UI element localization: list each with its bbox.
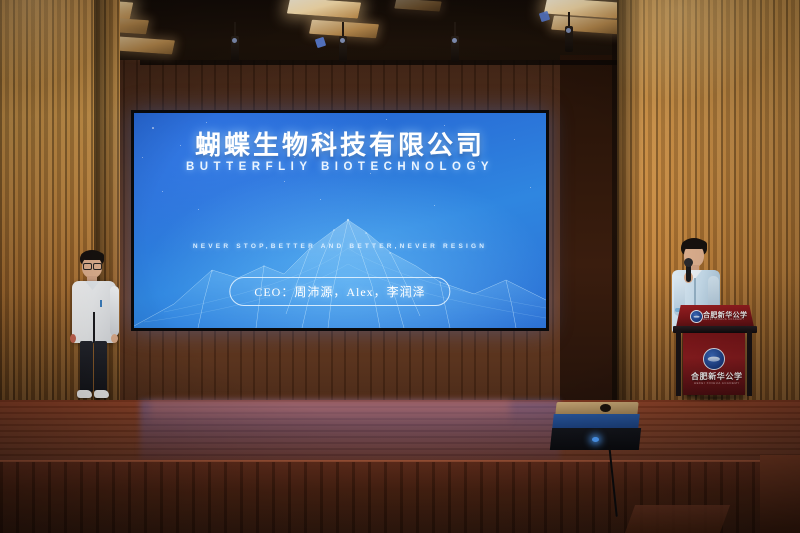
presenter-left-glasses-right (93, 263, 102, 270)
podium-emblem-front (703, 348, 725, 370)
podium-floor-shadow (668, 393, 760, 403)
presenter-left-shoe-left (77, 390, 92, 398)
curtain-shadow-right (617, 0, 643, 415)
floor-access-plate (625, 505, 730, 533)
presenter-left-trousers-right (94, 341, 107, 392)
podium-desk-lip (673, 326, 757, 333)
presenter-left-pocket-pen (100, 300, 102, 307)
presenter-left-hand-right (111, 334, 118, 343)
podium-base-right (747, 330, 752, 396)
hanging-lamp-4 (565, 26, 573, 52)
screen-ceo-badge: CEO：周沛源，Alex，李润泽 (229, 277, 450, 306)
presenter-left-glasses (83, 263, 92, 270)
podium-name-en-front: HEFEI XINHUA ACADEMY (694, 381, 740, 385)
truss-rod-3 (454, 22, 456, 36)
presenter-left-fringe (81, 251, 104, 260)
mountain-wireframe-graphic (134, 208, 546, 328)
stage-monitor-power-led (592, 437, 599, 442)
lighting-truss-beam (140, 60, 670, 65)
presenter-left-arm-right (110, 286, 119, 336)
truss-rod-1 (234, 22, 236, 36)
presenter-left-trousers-left (80, 341, 93, 392)
hanging-lamp-1 (231, 36, 239, 62)
presenter-right-fringe (682, 239, 707, 249)
stage-apron-right-return (760, 455, 800, 533)
truss-rod-2 (342, 22, 344, 36)
presenter-left-coat-opening (93, 312, 95, 343)
presenter-left-shoe-right (94, 390, 109, 398)
screen-tagline: NEVER STOP,BETTER AND BETTER,NEVER RESIG… (134, 243, 546, 250)
podium-base-left (676, 330, 681, 396)
podium-emblem-top (690, 310, 703, 323)
presenter-left-hand-left (70, 334, 76, 343)
presenter-left (60, 250, 130, 405)
podium-name-en-top: HEFEI XINHUA ACADEMY (703, 318, 744, 321)
screen-title-chinese: 蝴蝶生物科技有限公司 (134, 125, 546, 162)
stage-monitor-grille (552, 414, 640, 429)
warm-reflection-on-floor (150, 400, 510, 426)
stage-monitor-handle (600, 404, 611, 412)
truss-rod-4 (568, 12, 570, 26)
screen-title-english: BUTTERFLIY BIOTECHNOLOGY (134, 161, 546, 173)
led-presentation-screen: 蝴蝶生物科技有限公司 BUTTERFLIY BIOTECHNOLOGY NEVE… (131, 110, 549, 331)
auditorium-stage-photo: 蝴蝶生物科技有限公司 BUTTERFLIY BIOTECHNOLOGY NEVE… (0, 0, 800, 533)
hanging-lamp-3 (451, 36, 459, 62)
microphone-head (684, 258, 693, 267)
hanging-lamp-2 (339, 36, 347, 62)
